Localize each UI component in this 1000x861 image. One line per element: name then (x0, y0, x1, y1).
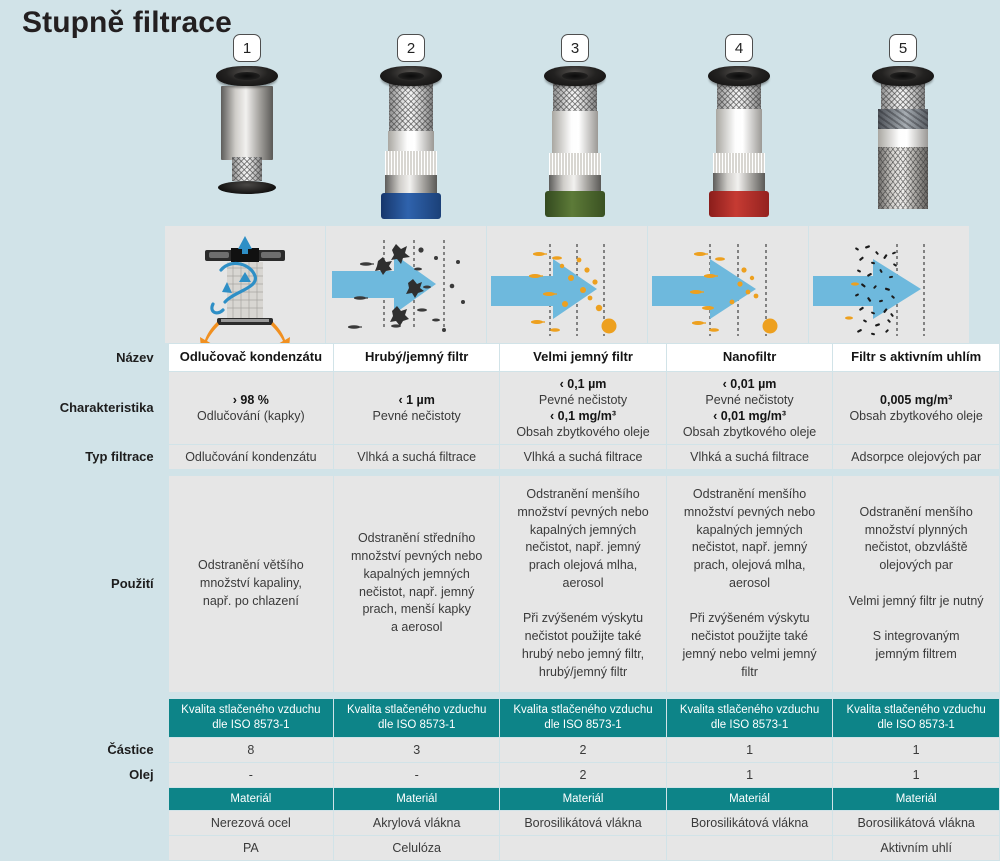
material-header-5: Materiál (833, 788, 999, 811)
olej-cell-4: 1 (667, 763, 833, 787)
row-label-charakteristika: Charakteristika (1, 372, 168, 444)
nano-filter-diagram-icon (648, 226, 808, 343)
filter-image-4 (706, 66, 772, 217)
filter-image-2 (378, 66, 444, 219)
material2-cell-1: PA (169, 836, 333, 860)
castice-cell-2: 3 (334, 738, 499, 762)
product-strip: 1 2 3 4 (165, 34, 985, 226)
row-label-pouziti: Použití (1, 476, 168, 692)
typ-cell-1: Odlučování kondenzátu (169, 445, 333, 469)
carbon-filter-diagram-icon (809, 226, 969, 343)
char-value-text: Obsah zbytkového oleje (839, 408, 993, 424)
char-value-bold: ‹ 1 µm (340, 392, 493, 408)
pouziti-cell-2: Odstranění středního množství pevných ne… (334, 476, 499, 692)
diagram-strip (165, 226, 985, 343)
coarse-filter-diagram-icon (326, 226, 486, 343)
filter-cap-icon (216, 66, 278, 86)
table-row-kvalita-header: Kvalita stlačeného vzduchu dle ISO 8573-… (1, 699, 999, 737)
filter-image-1 (214, 66, 280, 194)
char-value-bold: 0,005 mg/m³ (839, 392, 993, 408)
filter-base (545, 191, 605, 217)
row-gap-1 (1, 470, 999, 475)
filter-carbon (878, 109, 928, 129)
filter-base (381, 193, 441, 219)
diagram-stage-2 (326, 226, 486, 343)
filter-mesh (881, 83, 925, 109)
diagram-stage-5 (809, 226, 969, 343)
filter-smooth (716, 109, 762, 153)
filter-pleat (385, 151, 437, 175)
filter-cap-icon (872, 66, 934, 86)
material-header-1: Materiál (169, 788, 333, 811)
kvalita-header-5: Kvalita stlačeného vzduchu dle ISO 8573-… (833, 699, 999, 737)
row-label-empty-mat1 (1, 811, 168, 835)
filter-mesh-lower (878, 147, 928, 209)
row-label-empty-material (1, 788, 168, 811)
filter-smooth (552, 111, 598, 153)
filter-smooth (388, 131, 434, 151)
castice-cell-3: 2 (500, 738, 666, 762)
filter-smooth (878, 129, 928, 147)
table-row-pouziti: Použití Odstranění většího množství kapa… (1, 476, 999, 692)
filter-body-metal (221, 86, 273, 160)
kvalita-header-3: Kvalita stlačeného vzduchu dle ISO 8573-… (500, 699, 666, 737)
row-label-empty-mat2 (1, 836, 168, 860)
table-row-nazev: Název Odlučovač kondenzátu Hrubý/jemný f… (1, 344, 999, 371)
filter-cap-icon (380, 66, 442, 86)
separator-diagram-icon (165, 226, 325, 343)
material-header-3: Materiál (500, 788, 666, 811)
filter-mesh (389, 83, 433, 131)
fine-filter-diagram-icon (487, 226, 647, 343)
diagram-stage-1 (165, 226, 325, 343)
row-label-nazev: Název (1, 344, 168, 371)
filter-base (709, 191, 769, 217)
filter-cap-icon (544, 66, 606, 86)
typ-cell-5: Adsorpce olejových par (833, 445, 999, 469)
olej-cell-2: - (334, 763, 499, 787)
nazev-cell-4: Nanofiltr (667, 344, 833, 371)
char-value-text: Odlučování (kapky) (175, 408, 327, 424)
table-row-olej: Olej - - 2 1 1 (1, 763, 999, 787)
filter-mesh (553, 83, 597, 111)
table-row-material-1: Nerezová ocel Akrylová vlákna Borosiliká… (1, 811, 999, 835)
char-value-text: Pevné nečistoty (340, 408, 493, 424)
nazev-cell-5: Filtr s aktivním uhlím (833, 344, 999, 371)
charakteristika-cell-5: 0,005 mg/m³ Obsah zbytkového oleje (833, 372, 999, 444)
char-value-bold: ‹ 0,01 µm (673, 376, 827, 392)
table-row-material-2: PA Celulóza Aktivním uhlí (1, 836, 999, 860)
typ-cell-4: Vlhká a suchá filtrace (667, 445, 833, 469)
filter-cap-icon (708, 66, 770, 86)
filter-metal (713, 173, 765, 191)
pouziti-cell-4: Odstranění menšího množství pevných nebo… (667, 476, 833, 692)
stage-badge-3: 3 (561, 34, 589, 62)
pouziti-cell-3: Odstranění menšího množství pevných nebo… (500, 476, 666, 692)
char-value-text-2: Obsah zbytkového oleje (673, 424, 827, 440)
table-row-material-header: Materiál Materiál Materiál Materiál Mate… (1, 788, 999, 811)
filter-metal (385, 175, 437, 193)
filter-image-5 (870, 66, 936, 209)
stage-badge-4: 4 (725, 34, 753, 62)
charakteristika-cell-3: ‹ 0,1 µm Pevné nečistoty ‹ 0,1 mg/m³ Obs… (500, 372, 666, 444)
filter-mesh (232, 157, 262, 181)
charakteristika-cell-4: ‹ 0,01 µm Pevné nečistoty ‹ 0,01 mg/m³ O… (667, 372, 833, 444)
char-value-bold-2: ‹ 0,1 mg/m³ (506, 408, 660, 424)
filter-image-3 (542, 66, 608, 217)
castice-cell-4: 1 (667, 738, 833, 762)
table-row-castice: Částice 8 3 2 1 1 (1, 738, 999, 762)
char-value-bold-2: ‹ 0,01 mg/m³ (673, 408, 827, 424)
filter-pleat (713, 153, 765, 173)
material1-cell-5: Borosilikátová vlákna (833, 811, 999, 835)
olej-cell-5: 1 (833, 763, 999, 787)
kvalita-header-1: Kvalita stlačeného vzduchu dle ISO 8573-… (169, 699, 333, 737)
row-label-castice: Částice (1, 738, 168, 762)
char-value-text: Pevné nečistoty (673, 392, 827, 408)
product-stage-3: 3 (493, 34, 657, 226)
material2-cell-2: Celulóza (334, 836, 499, 860)
stage-badge-1: 1 (233, 34, 261, 62)
castice-cell-5: 1 (833, 738, 999, 762)
product-stage-4: 4 (657, 34, 821, 226)
nazev-cell-2: Hrubý/jemný filtr (334, 344, 499, 371)
diagram-stage-3 (487, 226, 647, 343)
material1-cell-3: Borosilikátová vlákna (500, 811, 666, 835)
diagram-stage-4 (648, 226, 808, 343)
char-value-text-2: Obsah zbytkového oleje (506, 424, 660, 440)
material1-cell-1: Nerezová ocel (169, 811, 333, 835)
filter-specification-table: Název Odlučovač kondenzátu Hrubý/jemný f… (0, 343, 1000, 861)
product-stage-5: 5 (821, 34, 985, 226)
filter-mesh (717, 83, 761, 109)
product-stage-1: 1 (165, 34, 329, 226)
typ-cell-2: Vlhká a suchá filtrace (334, 445, 499, 469)
row-label-olej: Olej (1, 763, 168, 787)
material2-cell-3 (500, 836, 666, 860)
material-header-2: Materiál (334, 788, 499, 811)
filter-pleat (549, 153, 601, 175)
filter-metal (549, 175, 601, 191)
row-gap-2 (1, 693, 999, 698)
material1-cell-4: Borosilikátová vlákna (667, 811, 833, 835)
stage-badge-5: 5 (889, 34, 917, 62)
charakteristika-cell-1: › 98 % Odlučování (kapky) (169, 372, 333, 444)
material2-cell-5: Aktivním uhlí (833, 836, 999, 860)
kvalita-header-4: Kvalita stlačeného vzduchu dle ISO 8573-… (667, 699, 833, 737)
nazev-cell-3: Velmi jemný filtr (500, 344, 666, 371)
stage-badge-2: 2 (397, 34, 425, 62)
typ-cell-3: Vlhká a suchá filtrace (500, 445, 666, 469)
charakteristika-cell-2: ‹ 1 µm Pevné nečistoty (334, 372, 499, 444)
table-row-charakteristika: Charakteristika › 98 % Odlučování (kapky… (1, 372, 999, 444)
material-header-4: Materiál (667, 788, 833, 811)
char-value-text: Pevné nečistoty (506, 392, 660, 408)
pouziti-cell-1: Odstranění většího množství kapaliny, na… (169, 476, 333, 692)
row-label-typ-filtrace: Typ filtrace (1, 445, 168, 469)
olej-cell-1: - (169, 763, 333, 787)
castice-cell-1: 8 (169, 738, 333, 762)
olej-cell-3: 2 (500, 763, 666, 787)
char-value-bold: ‹ 0,1 µm (506, 376, 660, 392)
material1-cell-2: Akrylová vlákna (334, 811, 499, 835)
product-stage-2: 2 (329, 34, 493, 226)
pouziti-cell-5: Odstranění menšího množství plynných neč… (833, 476, 999, 692)
kvalita-header-2: Kvalita stlačeného vzduchu dle ISO 8573-… (334, 699, 499, 737)
filter-foot-disc (218, 181, 276, 194)
row-label-empty-kvalita (1, 699, 168, 737)
nazev-cell-1: Odlučovač kondenzátu (169, 344, 333, 371)
material2-cell-4 (667, 836, 833, 860)
table-row-typ-filtrace: Typ filtrace Odlučování kondenzátu Vlhká… (1, 445, 999, 469)
char-value-bold: › 98 % (175, 392, 327, 408)
